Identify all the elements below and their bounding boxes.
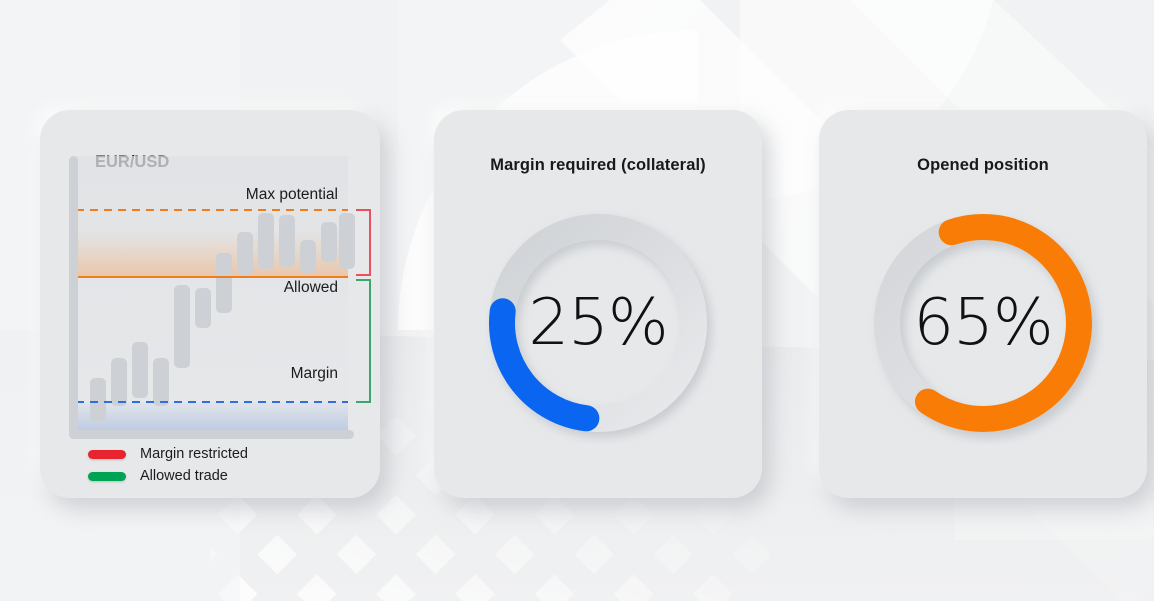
candle <box>174 285 190 368</box>
candle <box>300 240 316 273</box>
candle <box>216 253 232 313</box>
candle <box>237 232 253 275</box>
fx-legend: Margin restricted Allowed trade <box>88 443 248 487</box>
legend-item-allowed-trade: Allowed trade <box>88 465 248 487</box>
legend-label-margin-restricted: Margin restricted <box>140 446 248 462</box>
margin-required-donut: 25% <box>477 202 719 444</box>
candle <box>195 288 211 328</box>
candle <box>90 378 106 421</box>
candle <box>279 215 295 267</box>
bracket-allowed-trade <box>356 280 370 402</box>
y-axis <box>69 156 78 438</box>
opened-position-donut: 65% <box>862 202 1104 444</box>
candle <box>321 222 337 262</box>
opened-position-card: Opened position 65% <box>819 110 1147 498</box>
legend-item-margin-restricted: Margin restricted <box>88 443 248 465</box>
fx-chart-card: EUR/USD <box>40 110 380 498</box>
candle <box>258 213 274 269</box>
legend-label-allowed-trade: Allowed trade <box>140 468 228 484</box>
position-card-title: Opened position <box>819 156 1147 175</box>
candle <box>132 342 148 398</box>
position-donut-value: 65% <box>862 202 1104 444</box>
candle <box>111 358 127 406</box>
legend-swatch-green <box>88 472 126 481</box>
x-axis <box>69 430 354 439</box>
candle <box>153 358 169 406</box>
bracket-margin-restricted <box>356 210 370 275</box>
margin-required-card: Margin required (collateral) <box>434 110 762 498</box>
candle <box>339 213 355 269</box>
margin-card-title: Margin required (collateral) <box>434 156 762 175</box>
fx-candlestick-chart <box>40 110 380 498</box>
margin-donut-value: 25% <box>477 202 719 444</box>
legend-swatch-red <box>88 450 126 459</box>
